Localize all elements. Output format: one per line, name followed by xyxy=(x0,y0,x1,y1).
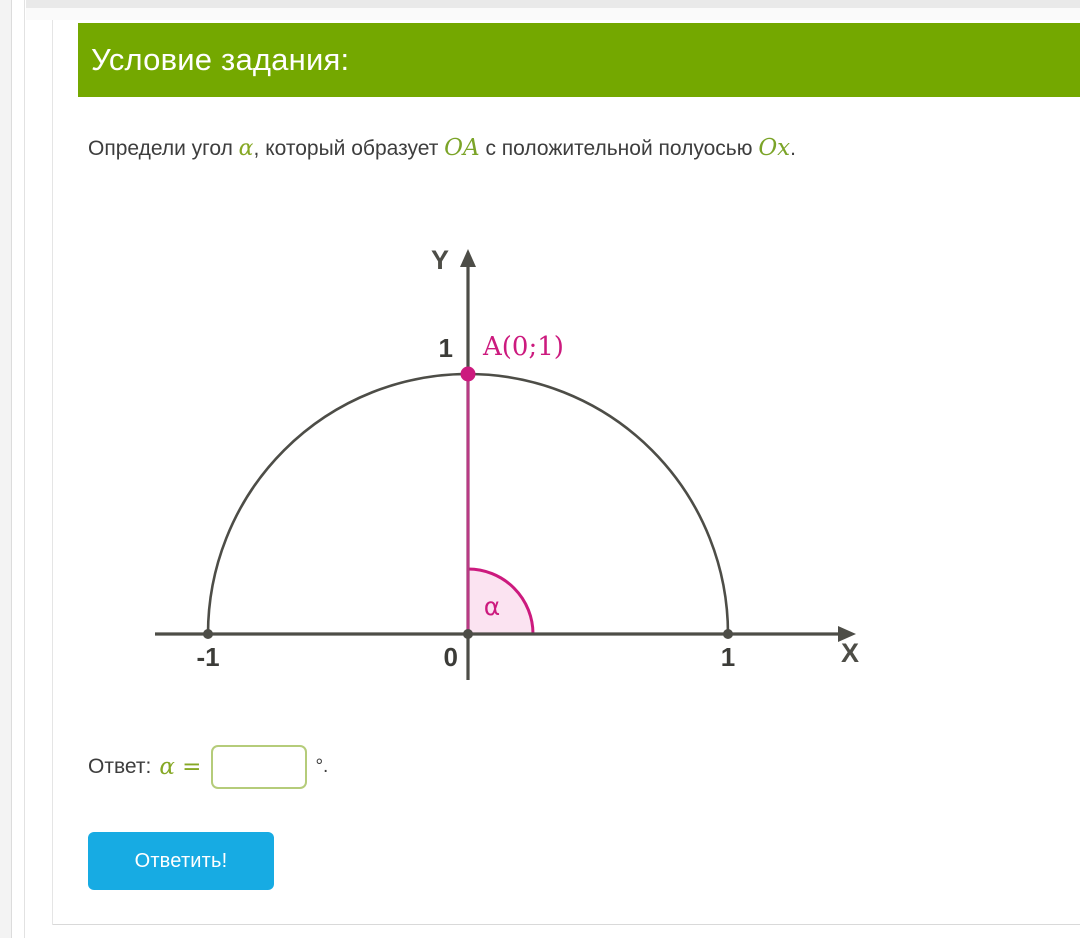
page-gutter-inner xyxy=(13,0,25,938)
submit-answer-button[interactable]: Ответить! xyxy=(88,832,274,890)
tick-dot-one xyxy=(723,629,733,639)
page-title: Условие задания: xyxy=(78,42,349,78)
question-suffix: . xyxy=(790,137,796,160)
question-mid-2: с положительной полуосью xyxy=(480,137,759,160)
tick-dot-origin xyxy=(463,629,473,639)
question-text: Определи угол α, который образует OA с п… xyxy=(88,133,796,164)
page-root: Условие задания: Определи угол α, которы… xyxy=(0,0,1080,938)
question-ox-symbol: Ox xyxy=(758,135,790,161)
figure-svg: Y X 1 -1 0 1 A(0;1) α xyxy=(140,225,880,705)
answer-row: Ответ: α = °. xyxy=(88,745,328,789)
task-header-bar: Условие задания: xyxy=(78,23,1080,97)
unit-circle-figure: Y X 1 -1 0 1 A(0;1) α xyxy=(140,225,880,705)
angle-label: α xyxy=(484,592,500,621)
page-gutter-outer xyxy=(0,0,12,938)
axis-label-x: X xyxy=(841,638,859,668)
tick-label-minus-one: -1 xyxy=(196,642,219,672)
question-alpha-symbol: α xyxy=(239,136,254,161)
top-strip xyxy=(26,0,1080,8)
tick-dot-minus-one xyxy=(203,629,213,639)
answer-alpha-equals: α = xyxy=(159,754,201,780)
tick-label-origin: 0 xyxy=(444,642,458,672)
question-prefix: Определи угол xyxy=(88,137,239,160)
tick-label-top-one: 1 xyxy=(439,333,453,363)
degree-suffix: °. xyxy=(315,756,328,778)
answer-label: Ответ: xyxy=(88,755,151,779)
tick-label-right-one: 1 xyxy=(721,642,735,672)
y-axis-arrowhead xyxy=(460,249,476,267)
top-strip-light xyxy=(26,8,1080,20)
axis-label-y: Y xyxy=(431,245,449,275)
point-a-dot xyxy=(461,367,476,382)
question-mid-1: , который образует xyxy=(254,137,445,160)
question-oa-symbol: OA xyxy=(444,135,479,161)
point-a-label: A(0;1) xyxy=(482,332,564,362)
answer-input[interactable] xyxy=(211,745,307,789)
